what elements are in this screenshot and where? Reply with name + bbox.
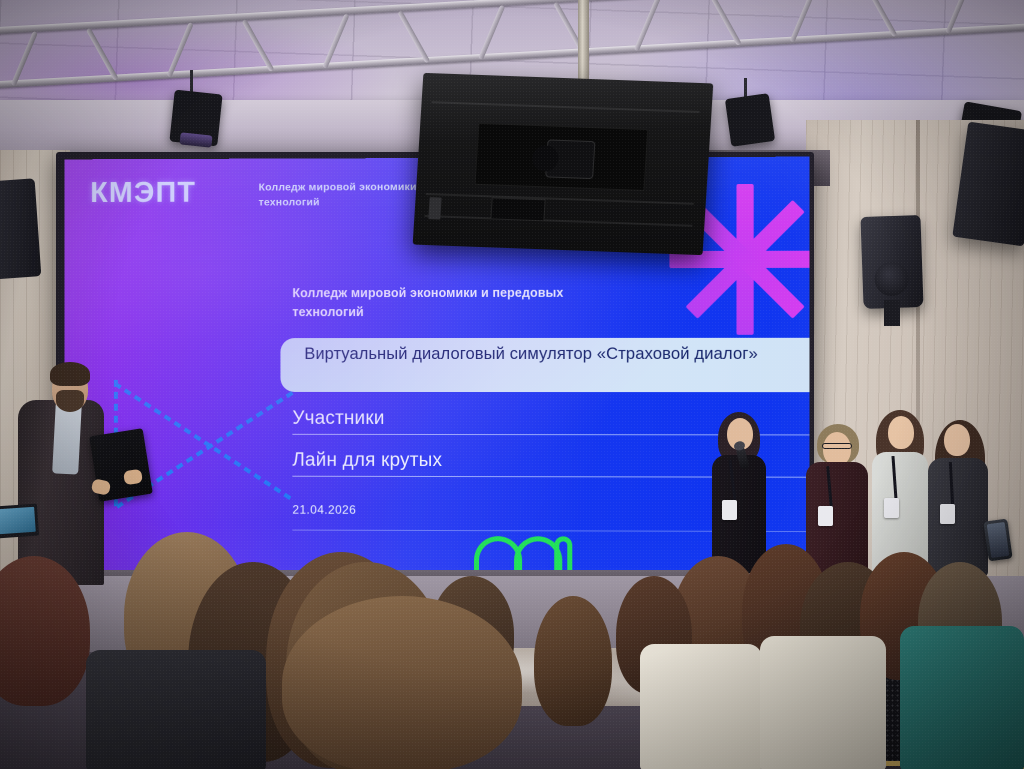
wall-speaker-left: [0, 178, 41, 279]
audience-torso: [900, 626, 1024, 769]
hanging-monitor-rear: [413, 73, 714, 255]
student-2-badge: [818, 506, 833, 526]
audience-torso: [640, 644, 762, 769]
audience-torso: [760, 636, 886, 769]
tv-port-panel: [490, 197, 545, 221]
student-2-glasses-icon: [822, 443, 852, 449]
student-4-torso: [928, 458, 988, 576]
student-3-badge: [884, 498, 899, 518]
presenter-beard: [56, 390, 84, 412]
student-2-torso: [806, 462, 868, 574]
tv-mount-hub: [545, 139, 595, 179]
tv-side-connector: [428, 197, 441, 219]
student-3-head: [888, 416, 914, 449]
student-2-head: [823, 432, 851, 466]
slide-title: Виртуальный диалоговый симулятор «Страхо…: [304, 343, 809, 366]
presenter-shirt: [52, 401, 82, 474]
presenter-hair: [50, 362, 90, 386]
speaker-bracket: [884, 300, 900, 326]
audience-torso: [86, 650, 266, 769]
student-4-badge: [940, 504, 955, 524]
wall-mounted-speaker-right: [860, 215, 923, 309]
slide-title-pill: Виртуальный диалоговый симулятор «Страхо…: [280, 338, 809, 392]
stage-light-center: [725, 93, 775, 147]
student-1-badge: [722, 500, 737, 520]
slide-eyebrow: Колледж мировой экономики и передовых те…: [292, 284, 612, 322]
student-4-head: [944, 424, 970, 456]
audience-head: [282, 596, 522, 769]
conference-photo-scene: КМЭПТ Колледж мировой экономики и передо…: [0, 0, 1024, 769]
slide-date: 21.04.2026: [292, 503, 356, 517]
slide-logo: КМЭПТ: [90, 177, 196, 210]
stage-laptop: [0, 504, 39, 539]
audience-head: [534, 596, 612, 726]
